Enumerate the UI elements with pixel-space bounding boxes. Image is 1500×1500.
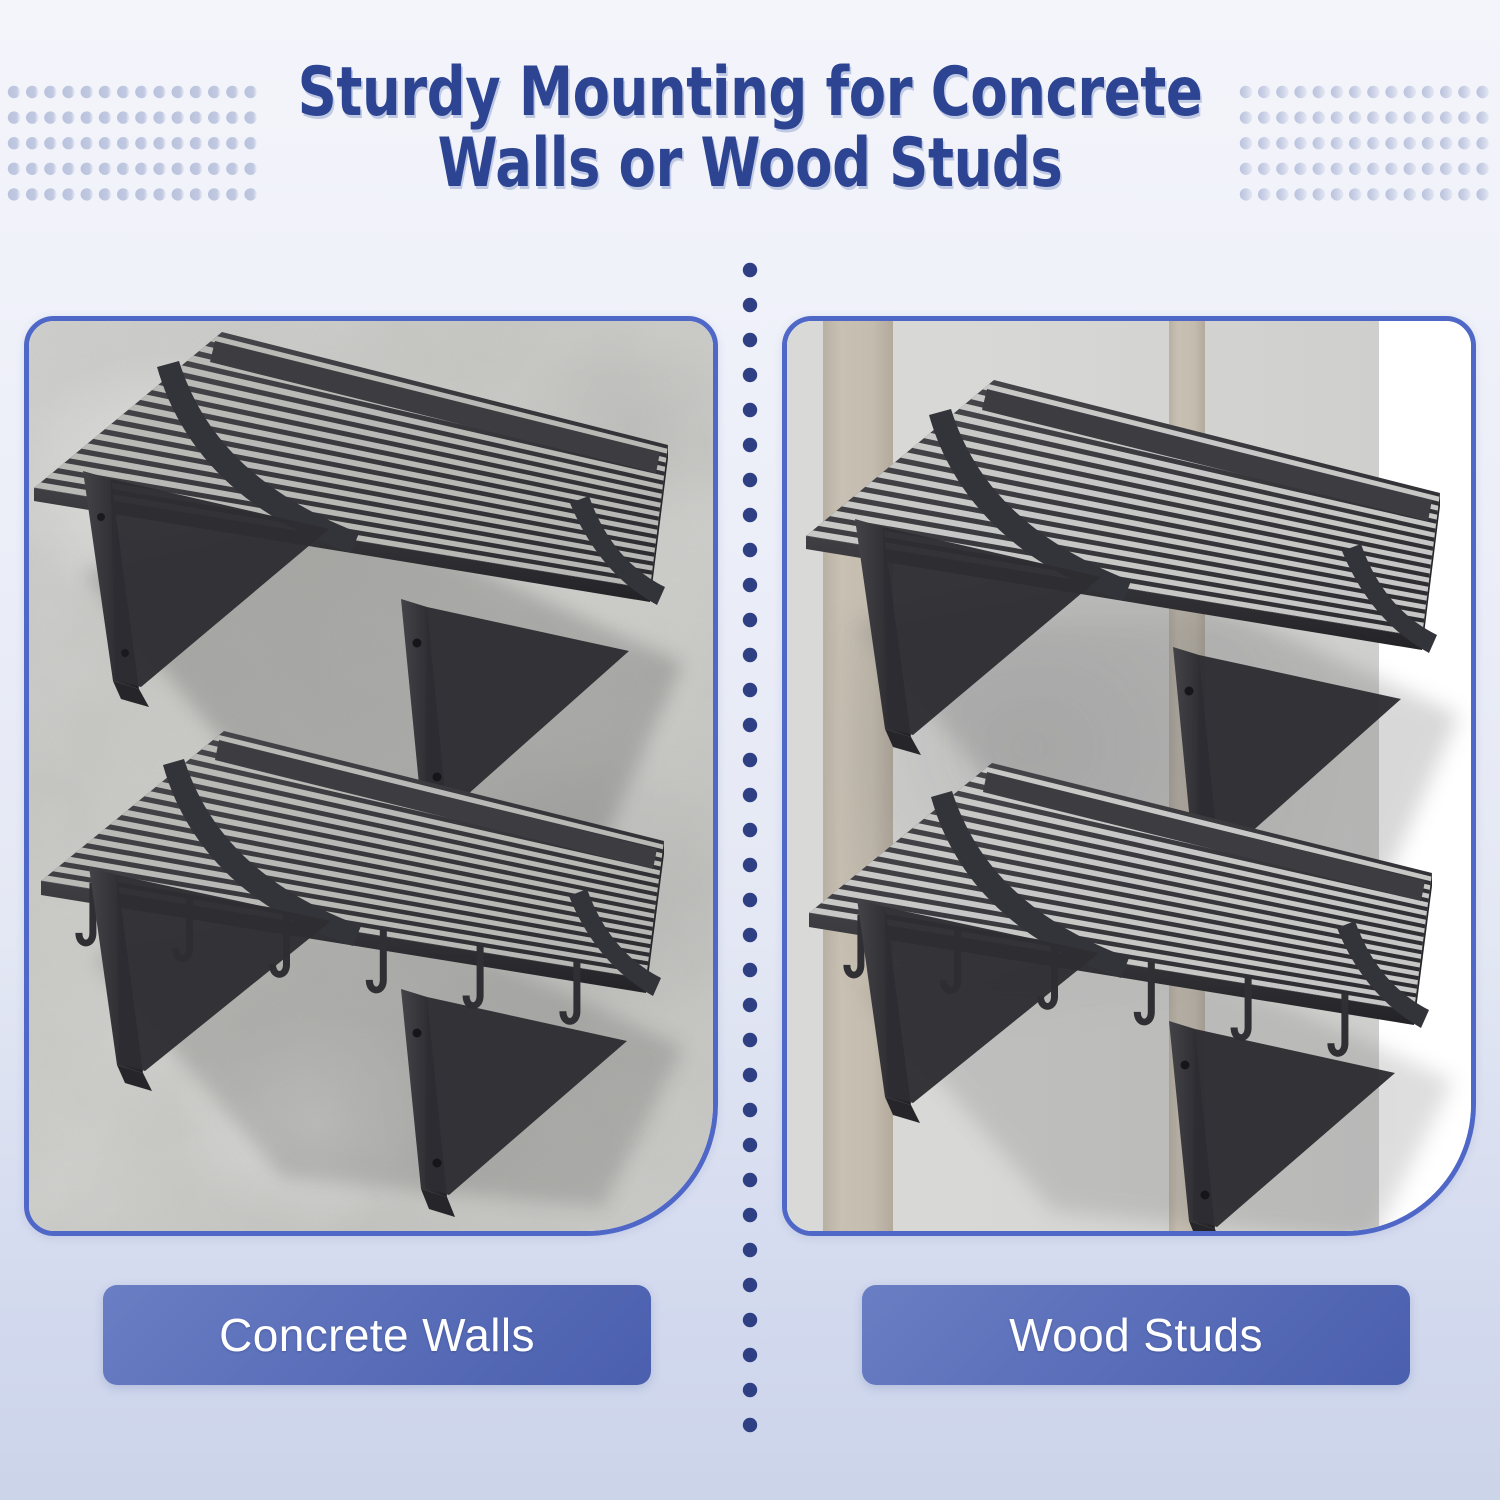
page-title: Sturdy Mounting for Concrete Walls or Wo… (150, 58, 1350, 199)
shelf-illustration-concrete (29, 321, 713, 1231)
shelf-illustration-wood-studs (787, 321, 1471, 1231)
panel-concrete-image (29, 321, 713, 1231)
caption-pill-concrete-walls[interactable]: Concrete Walls (103, 1285, 651, 1385)
vertical-dotted-divider (741, 262, 759, 1452)
caption-label-wood-studs: Wood Studs (1009, 1308, 1263, 1362)
caption-pill-wood-studs[interactable]: Wood Studs (862, 1285, 1410, 1385)
page-title-container: Sturdy Mounting for Concrete Walls or Wo… (0, 58, 1500, 199)
panel-wood-studs (782, 316, 1476, 1236)
caption-label-concrete-walls: Concrete Walls (219, 1308, 535, 1362)
panel-concrete-walls (24, 316, 718, 1236)
panel-wood-studs-image (787, 321, 1471, 1231)
